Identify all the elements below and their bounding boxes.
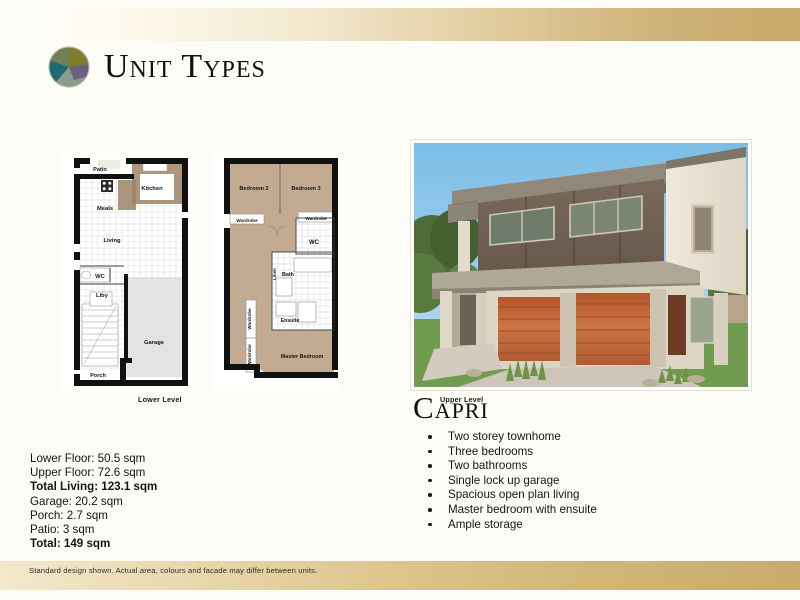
- page-title: Unit Types: [104, 50, 266, 84]
- svg-text:Wardrobe: Wardrobe: [305, 216, 327, 221]
- svg-text:Kitchen: Kitchen: [141, 186, 163, 192]
- disclaimer-text: Standard design shown. Actual area, colo…: [29, 566, 317, 575]
- bullet-icon: [428, 493, 432, 497]
- feature-label: Single lock up garage: [448, 474, 560, 487]
- svg-text:Wardrobe: Wardrobe: [247, 308, 252, 330]
- bullet-icon: [428, 523, 432, 527]
- brochure-page: Unit Types: [0, 0, 800, 600]
- list-item: Master bedroom with ensuite: [420, 503, 750, 518]
- lower-level-label: Lower Level: [138, 395, 182, 404]
- svg-text:Living: Living: [103, 238, 121, 244]
- area-schedule: Lower Floor: 50.5 sqm Upper Floor: 72.6 …: [30, 452, 250, 551]
- svg-text:Master Bedroom: Master Bedroom: [281, 354, 324, 360]
- svg-text:WC: WC: [95, 274, 105, 280]
- area-row: Lower Floor: 50.5 sqm: [30, 452, 250, 466]
- list-item: Two storey townhome: [420, 430, 750, 445]
- svg-text:Bedroom 3: Bedroom 3: [291, 186, 320, 192]
- capri-townhome-exterior-render: [414, 143, 748, 387]
- svg-text:Meals: Meals: [97, 206, 113, 212]
- bullet-icon: [428, 479, 432, 483]
- bullet-icon: [428, 508, 432, 512]
- lower-level-plan: Patio Kitchen Meals Living WC Liby Garag…: [60, 152, 192, 410]
- feature-label: Three bedrooms: [448, 445, 533, 458]
- svg-text:Liby: Liby: [96, 293, 109, 299]
- bullet-icon: [428, 435, 432, 439]
- svg-text:Bedroom 2: Bedroom 2: [239, 186, 268, 192]
- area-row-total: Total: 149 sqm: [30, 537, 250, 551]
- segmented-circle-logo-icon: [48, 46, 90, 88]
- feature-label: Spacious open plan living: [448, 488, 580, 501]
- feature-label: Ample storage: [448, 518, 523, 531]
- svg-text:Linen: Linen: [272, 268, 277, 280]
- area-row: Garage: 20.2 sqm: [30, 495, 250, 509]
- upper-level-plan: Bedroom 2 Bedroom 3 Wardrobe Wardrobe Wa…: [210, 152, 342, 410]
- svg-text:Wardrobe: Wardrobe: [247, 344, 252, 366]
- area-row: Upper Floor: 72.6 sqm: [30, 466, 250, 480]
- floor-plans: Patio Kitchen Meals Living WC Liby Garag…: [60, 152, 360, 410]
- list-item: Two bathrooms: [420, 459, 750, 474]
- bullet-icon: [428, 450, 432, 454]
- area-row: Porch: 2.7 sqm: [30, 509, 250, 523]
- page-header: Unit Types: [48, 46, 266, 88]
- list-item: Ample storage: [420, 518, 750, 533]
- bullet-icon: [428, 464, 432, 468]
- list-item: Three bedrooms: [420, 445, 750, 460]
- exterior-render-frame: [411, 140, 751, 390]
- area-row-total-living: Total Living: 123.1 sqm: [30, 480, 250, 494]
- list-item: Single lock up garage: [420, 474, 750, 489]
- svg-text:WC: WC: [309, 240, 320, 246]
- area-row: Patio: 3 sqm: [30, 523, 250, 537]
- svg-text:Porch: Porch: [90, 373, 106, 379]
- svg-text:Patio: Patio: [93, 167, 107, 173]
- product-name: Capri: [413, 392, 489, 423]
- features-list: Two storey townhome Three bedrooms Two b…: [420, 430, 750, 532]
- top-gradient-band: [0, 8, 800, 41]
- svg-text:Ensuite: Ensuite: [281, 318, 300, 324]
- svg-text:Wardrobe: Wardrobe: [236, 218, 258, 223]
- feature-label: Master bedroom with ensuite: [448, 503, 597, 516]
- svg-text:Bath: Bath: [282, 272, 294, 278]
- svg-text:Garage: Garage: [144, 340, 165, 346]
- feature-label: Two storey townhome: [448, 430, 561, 443]
- feature-label: Two bathrooms: [448, 459, 527, 472]
- list-item: Spacious open plan living: [420, 488, 750, 503]
